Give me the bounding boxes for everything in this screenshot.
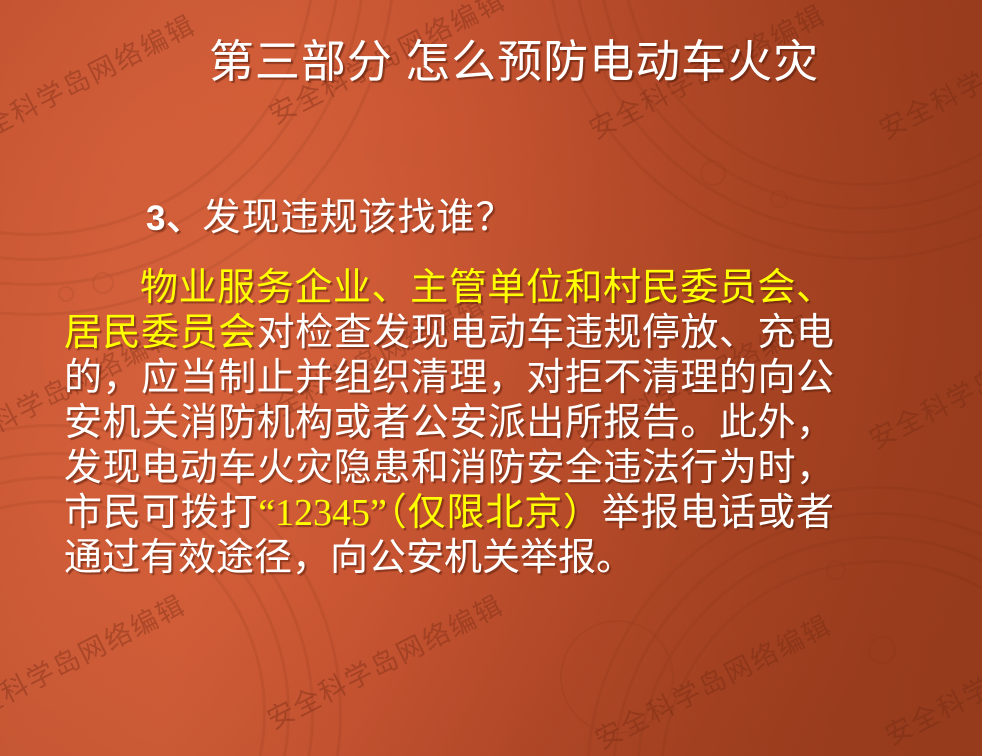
- presentation-slide: 安全科学岛网络编辑 安全科学岛网络编辑 安全科学岛网络编辑 安全科学岛网络编辑 …: [0, 0, 982, 756]
- section-heading-number: 3、: [146, 199, 202, 238]
- slide-content: 第三部分 怎么预防电动车火灾 3、发现违规该找谁？ 物业服务企业、主管单位和村民…: [0, 0, 982, 756]
- section-heading: 3、发现违规该找谁？: [146, 196, 514, 242]
- slide-title: 第三部分 怎么预防电动车火灾: [0, 36, 982, 89]
- body-highlight-hotline: “12345”（仅限北京）: [258, 492, 602, 534]
- section-heading-text: 发现违规该找谁？: [202, 197, 514, 239]
- body-paragraph: 物业服务企业、主管单位和村民委员会、居民委员会对检查发现电动车违规停放、充电的，…: [64, 266, 834, 581]
